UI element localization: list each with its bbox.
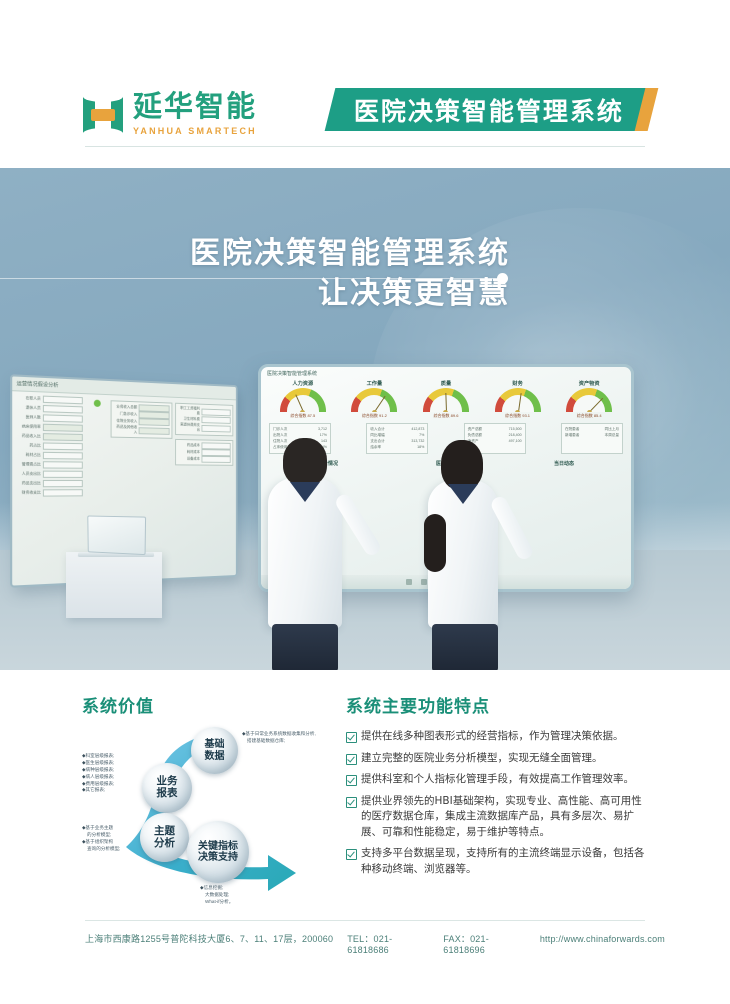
features-list: 提供在线多种图表形式的经营指标，作为管理决策依据。 建立完整的医院业务分析模型，… bbox=[346, 729, 646, 877]
features-section-title: 系统主要功能特点 bbox=[346, 692, 646, 717]
gauge-widget: 资产物资 综合指数 85.4 bbox=[560, 380, 618, 419]
kpi-key: 收入合计 bbox=[370, 427, 384, 432]
header-divider bbox=[85, 146, 645, 147]
footer-contact: 上海市西康路1255号普陀科技大厦6、7、11、17层，200060 TEL：0… bbox=[85, 932, 665, 955]
gauge-widget: 质量 综合指数 89.6 bbox=[417, 380, 475, 419]
metric-label: 药占比 bbox=[15, 443, 40, 449]
sphere-label: 业务 报表 bbox=[157, 776, 178, 800]
gauge-label: 资产物资 bbox=[560, 380, 618, 387]
checkbox-icon bbox=[346, 849, 357, 860]
hero-title-dot bbox=[497, 273, 508, 284]
kpi-box: 在院患者同比上月 新增患者本周总量 bbox=[561, 423, 623, 454]
left-screen-center-panel: 业务收入总额 门急诊收入 住院业务收入 药品及其他收入 bbox=[111, 398, 173, 496]
value-section-title: 系统价值 bbox=[82, 692, 332, 717]
trousers bbox=[432, 624, 498, 670]
metric-label: 人员支出比 bbox=[15, 472, 40, 477]
hero-section: 医院决策智能管理系统 让决策更智慧 运营情况假设分析 在职人员 退休人员 医师人… bbox=[0, 168, 730, 670]
dashboard-title: 医院决策智能管理系统 bbox=[261, 367, 631, 380]
gauge-dial-icon bbox=[351, 388, 397, 412]
content-section: 系统价值 基础 数据 业务 报表 bbox=[0, 670, 730, 920]
logo-text-cn: 延华智能 bbox=[133, 93, 257, 122]
panel-label: 住院业务收入 bbox=[114, 419, 137, 425]
gauge-label: 工作量 bbox=[345, 380, 403, 387]
collar bbox=[448, 484, 478, 504]
kpi-value: 本周总量 bbox=[605, 433, 619, 438]
kpi-box: 收入合计412,873 同比增幅7% 支出合计313,732 结余率18% bbox=[366, 423, 428, 454]
feature-item: 提供业界领先的HBI基础架构，实现专业、高性能、高可用性的医疗数据仓库，集成主流… bbox=[346, 794, 646, 841]
person-male-doctor bbox=[268, 478, 342, 628]
note-line: 费用层级报表; bbox=[86, 781, 115, 786]
sphere-label: 基础 数据 bbox=[205, 739, 225, 761]
kpi-value: 143 bbox=[321, 439, 327, 444]
gauge-row: 人力资源 综合指数 87.5 工作量 综合指数 91.2 质量 bbox=[261, 380, 631, 419]
note-line: 病人层级报表; bbox=[86, 774, 115, 779]
kpi-value: 18% bbox=[417, 445, 424, 450]
panel-label: 药品成本 bbox=[178, 443, 200, 448]
note-line: 基于业务主题 bbox=[86, 825, 114, 830]
sphere-theme-analysis: 主题 分析 bbox=[140, 813, 189, 862]
logo-text-en: YANHUA SMARTECH bbox=[133, 126, 257, 136]
note-line: 大数据处理; bbox=[205, 892, 229, 897]
left-screen-tree-connector bbox=[86, 397, 108, 496]
checkbox-icon bbox=[346, 775, 357, 786]
gauge-widget: 人力资源 综合指数 87.5 bbox=[274, 380, 332, 419]
laptop-screen bbox=[87, 515, 146, 555]
note-mining: ◆信息挖掘; 大数据处理; What-if分析。 bbox=[200, 885, 280, 906]
kpi-value: 313,732 bbox=[411, 439, 424, 444]
sphere-base-data: 基础 数据 bbox=[191, 727, 238, 774]
note-line: 信息挖掘; bbox=[204, 885, 224, 890]
panel-label: 药品及其他收入 bbox=[114, 425, 137, 436]
company-logo[interactable]: 延华智能 YANHUA SMARTECH bbox=[82, 93, 257, 136]
gauge-value: 综合指数 89.6 bbox=[417, 413, 475, 419]
metric-label: 医师人数 bbox=[15, 415, 40, 421]
poster-page: 延华智能 YANHUA SMARTECH 医院决策智能管理系统 医院决策智能管理… bbox=[0, 0, 730, 1004]
header-banner-title: 医院决策智能管理系统 bbox=[354, 92, 624, 128]
footer-fax: FAX：021-61818696 bbox=[443, 932, 526, 955]
note-line: 医生层级报表; bbox=[86, 760, 115, 765]
kpi-key: 在院患者 bbox=[565, 427, 579, 432]
gauge-widget: 工作量 综合指数 91.2 bbox=[345, 380, 403, 419]
panel-label: 业务收入总额 bbox=[114, 404, 137, 410]
kpi-value: 17% bbox=[320, 433, 327, 438]
note-line: 的分析模型; bbox=[87, 832, 111, 837]
note-line: What-if分析。 bbox=[205, 899, 233, 904]
metric-label: 管理费占比 bbox=[15, 462, 40, 467]
kpi-key: 负债总额 bbox=[468, 433, 482, 438]
feature-text: 提供科室和个人指标化管理手段，有效提高工作管理效率。 bbox=[361, 772, 634, 788]
panel-label: 耗材成本 bbox=[178, 450, 200, 455]
note-base-data: ◆基于日常业务系统数据收集和分析, 搭建基础数据仓库; bbox=[242, 731, 334, 745]
metric-label: 病床使用率 bbox=[15, 424, 40, 430]
kpi-key: 同比增幅 bbox=[370, 433, 384, 438]
kpi-value: 497,100 bbox=[509, 439, 522, 444]
metric-label: 财务收支比 bbox=[15, 490, 40, 495]
gauge-label: 人力资源 bbox=[274, 380, 332, 387]
yanhua-h-logo-icon bbox=[82, 95, 124, 135]
sphere-key-indicator: 关键指标 决策支持 bbox=[187, 821, 249, 883]
note-line: 其它报表; bbox=[86, 787, 106, 792]
trousers bbox=[272, 624, 338, 670]
gauge-dial-icon bbox=[566, 388, 612, 412]
note-line: 科室层级报表; bbox=[86, 753, 115, 758]
feature-item: 提供科室和个人指标化管理手段，有效提高工作管理效率。 bbox=[346, 772, 646, 788]
value-column: 系统价值 基础 数据 业务 报表 bbox=[82, 692, 332, 895]
note-reports: ◆科室层级报表; ◆医生层级报表; ◆病种层级报表; ◆病人层级报表; ◆费用层… bbox=[82, 753, 138, 794]
metric-label: 药品支出比 bbox=[15, 481, 40, 486]
note-line: 基于组织架构 bbox=[86, 839, 114, 844]
kpi-value: 218,400 bbox=[509, 433, 522, 438]
kpi-value: 715,500 bbox=[509, 427, 522, 432]
gauge-dial-icon bbox=[280, 388, 326, 412]
hero-title-underline bbox=[0, 278, 500, 279]
gauge-value: 综合指数 91.2 bbox=[345, 413, 403, 419]
person-female-doctor bbox=[428, 480, 498, 628]
kpi-key: 新增患者 bbox=[565, 433, 579, 438]
note-line: 搭建基础数据仓库; bbox=[247, 738, 285, 743]
left-screen-right-panel: 职工工资福利费 卫生材料费 离退休费用支出 药品成本 耗材成本 设备成本 bbox=[175, 401, 233, 496]
hero-title-line2: 让决策更智慧 bbox=[0, 274, 510, 314]
ponytail bbox=[424, 514, 446, 572]
kpi-value: 7% bbox=[419, 433, 424, 438]
panel-label: 门急诊收入 bbox=[114, 411, 137, 417]
kpi-key: 住院人次 bbox=[273, 439, 287, 444]
sphere-label: 关键指标 决策支持 bbox=[198, 841, 238, 863]
hero-title-line1: 医院决策智能管理系统 bbox=[190, 236, 510, 271]
gauge-label: 财务 bbox=[489, 380, 547, 387]
gauge-value: 综合指数 87.5 bbox=[274, 413, 332, 419]
kpi-key: 支出合计 bbox=[370, 439, 384, 444]
kpi-key: 资产总额 bbox=[468, 427, 482, 432]
value-flow-diagram: 基础 数据 业务 报表 主题 分析 关键指标 决策支持 ◆科室层级报表; ◆医生… bbox=[82, 727, 334, 895]
gauge-dial-icon bbox=[495, 388, 541, 412]
sphere-business-report: 业务 报表 bbox=[142, 763, 192, 813]
head bbox=[283, 438, 327, 486]
feature-item: 支持多平台数据呈现，支持所有的主流终端显示设备，包括各种移动终端、浏览器等。 bbox=[346, 846, 646, 877]
toolbar-icon[interactable] bbox=[421, 579, 427, 585]
metric-label: 在职人员 bbox=[15, 396, 40, 402]
footer-tel: TEL：021-61818686 bbox=[347, 932, 429, 955]
footer-url[interactable]: http://www.chinaforwards.com bbox=[540, 934, 665, 944]
gauge-dial-icon bbox=[423, 388, 469, 412]
feature-item: 建立完整的医院业务分析模型，实现无缝全面管理。 bbox=[346, 751, 646, 767]
checkbox-icon bbox=[346, 754, 357, 765]
footer-divider bbox=[85, 920, 645, 921]
feature-text: 建立完整的医院业务分析模型，实现无缝全面管理。 bbox=[361, 751, 603, 767]
metric-label: 耗材占比 bbox=[15, 453, 40, 459]
gauge-value: 综合指数 85.4 bbox=[560, 413, 618, 419]
toolbar-icon[interactable] bbox=[406, 579, 412, 585]
note-line: 病种层级报表; bbox=[86, 767, 115, 772]
head bbox=[441, 440, 483, 490]
page-header: 延华智能 YANHUA SMARTECH 医院决策智能管理系统 bbox=[0, 0, 730, 168]
kpi-value: 412,873 bbox=[411, 427, 424, 432]
feature-text: 提供业界领先的HBI基础架构，实现专业、高性能、高可用性的医疗数据仓库，集成主流… bbox=[361, 794, 646, 841]
gauge-label: 质量 bbox=[417, 380, 475, 387]
feature-text: 提供在线多种图表形式的经营指标，作为管理决策依据。 bbox=[361, 729, 624, 745]
panel-label: 离退休费用支出 bbox=[178, 422, 200, 432]
footer-address: 上海市西康路1255号普陀科技大厦6、7、11、17层，200060 bbox=[85, 932, 333, 945]
page-footer: 上海市西康路1255号普陀科技大厦6、7、11、17层，200060 TEL：0… bbox=[0, 920, 730, 1004]
panel-label: 职工工资福利费 bbox=[178, 406, 200, 416]
panel-label: 设备成本 bbox=[178, 457, 200, 462]
subsection-title: 当日动态 bbox=[505, 460, 623, 467]
panel-label: 卫生材料费 bbox=[178, 417, 200, 423]
checkbox-icon bbox=[346, 797, 357, 808]
sphere-label: 主题 分析 bbox=[154, 826, 175, 850]
note-line: 基于日常业务系统数据收集和分析, bbox=[246, 731, 316, 736]
gauge-widget: 财务 综合指数 93.1 bbox=[489, 380, 547, 419]
metric-label: 退休人员 bbox=[15, 405, 40, 411]
note-line: 查询的分析模型; bbox=[87, 846, 120, 851]
kpi-key: 结余率 bbox=[370, 445, 381, 450]
kpi-value: 同比上月 bbox=[605, 427, 619, 432]
header-banner: 医院决策智能管理系统 bbox=[325, 88, 654, 131]
left-screen-metric-column: 在职人员 退休人员 医师人数 病床使用率 药品收入比 药占比 耗材占比 管理费占… bbox=[15, 395, 82, 497]
kpi-key: 门诊人次 bbox=[273, 427, 287, 432]
checkbox-icon bbox=[346, 732, 357, 743]
features-column: 系统主要功能特点 提供在线多种图表形式的经营指标，作为管理决策依据。 建立完整的… bbox=[346, 692, 646, 883]
kpi-key: 出院人次 bbox=[273, 433, 287, 438]
hero-title: 医院决策智能管理系统 让决策更智慧 bbox=[0, 234, 510, 314]
metric-label: 药品收入比 bbox=[15, 434, 40, 440]
collar bbox=[290, 482, 320, 502]
desk bbox=[66, 552, 162, 618]
note-models: ◆基于业务主题 的分析模型; ◆基于组织架构 查询的分析模型; bbox=[82, 825, 142, 853]
feature-text: 支持多平台数据呈现，支持所有的主流终端显示设备，包括各种移动终端、浏览器等。 bbox=[361, 846, 646, 877]
kpi-value: 3,712 bbox=[318, 427, 327, 432]
feature-item: 提供在线多种图表形式的经营指标，作为管理决策依据。 bbox=[346, 729, 646, 745]
gauge-value: 综合指数 93.1 bbox=[489, 413, 547, 419]
